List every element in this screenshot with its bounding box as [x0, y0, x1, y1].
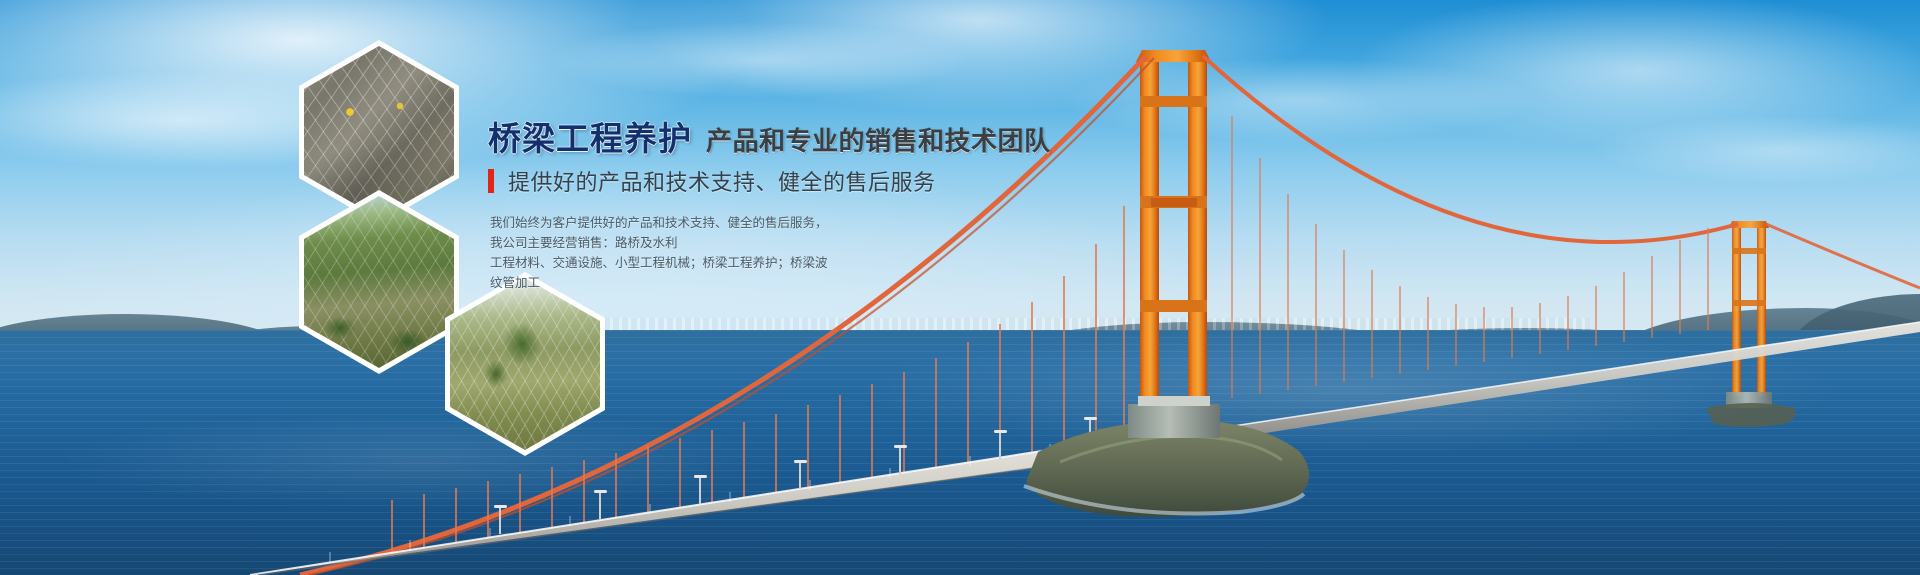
red-bar-marker-icon: [488, 169, 494, 193]
headline-brand: 桥梁工程养护: [488, 120, 692, 157]
bridge-tower-far: [1729, 221, 1769, 396]
headline-slogan: 产品和专业的销售和技术团队: [706, 126, 1051, 156]
mesh-slope-sapling-photo: [450, 278, 600, 450]
body-line-2: 工程材料、交通设施、小型工程机械；桥梁工程养护；桥梁波纹管加工: [490, 253, 830, 293]
hero-banner: 桥梁工程养护产品和专业的销售和技术团队 提供好的产品和技术支持、健全的售后服务 …: [0, 0, 1920, 575]
bridge-tower-main: [1136, 50, 1211, 432]
banner-headline: 桥梁工程养护产品和专业的销售和技术团队: [488, 122, 1048, 155]
subline-text: 提供好的产品和技术支持、健全的售后服务: [508, 165, 936, 197]
green-hillside-mesh-photo: [304, 196, 454, 368]
deck-railing: [330, 432, 1130, 562]
suspender-cables-right: [1232, 116, 1708, 398]
banner-copy: 桥梁工程养护产品和专业的销售和技术团队 提供好的产品和技术支持、健全的售后服务 …: [488, 122, 1048, 293]
banner-subline: 提供好的产品和技术支持、健全的售后服务: [488, 165, 1048, 197]
bridge-pier-island: [1024, 396, 1309, 517]
bridge-pier-far: [1706, 392, 1796, 427]
body-line-1: 我们始终为客户提供好的产品和技术支持、健全的售后服务，我公司主要经营销售：路桥及…: [490, 213, 830, 253]
banner-body-copy: 我们始终为客户提供好的产品和技术支持、健全的售后服务，我公司主要经营销售：路桥及…: [490, 213, 830, 293]
hex-thumbnail-2[interactable]: [299, 190, 459, 374]
